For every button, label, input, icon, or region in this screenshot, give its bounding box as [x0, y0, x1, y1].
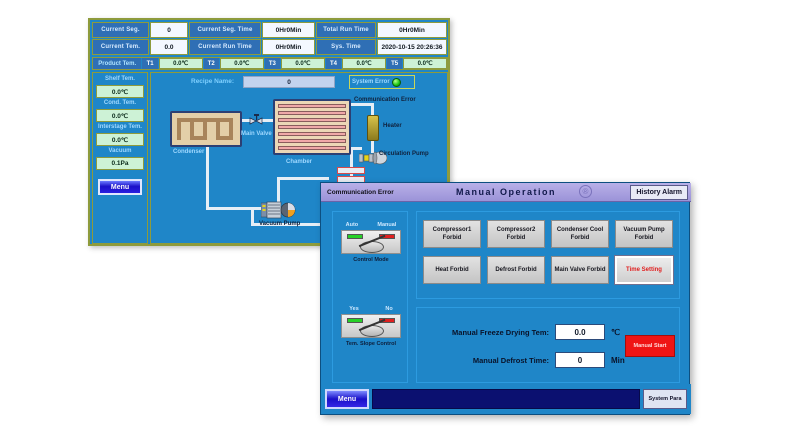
- vacuum-pump-forbid-button[interactable]: Vacuum Pump Forbid: [615, 220, 673, 248]
- pipe-vacuum-cross: [277, 177, 329, 180]
- sidebar-value-vacuum: 0.1Pa: [96, 157, 144, 170]
- heat-exchanger-upper-icon: [337, 167, 365, 174]
- vacuum-pump-icon: [261, 201, 297, 219]
- status-value-sys-time: 2020-10-15 20:26:36: [377, 39, 447, 55]
- compressor1-forbid-button[interactable]: Compressor1 Forbid: [423, 220, 481, 248]
- system-para-button[interactable]: System Para: [643, 389, 687, 409]
- control-mode-switch[interactable]: [341, 230, 401, 254]
- condenser-label: Condenser: [173, 149, 204, 156]
- forbid-button-grid: Compressor1 Forbid Compressor2 Forbid Co…: [416, 211, 680, 299]
- chamber-vessel-icon: [273, 99, 351, 155]
- system-error-lamp-icon: [392, 78, 401, 87]
- sidebar-label-vacuum: Vacuum: [95, 148, 145, 155]
- defrost-forbid-button[interactable]: Defrost Forbid: [487, 256, 545, 284]
- status-row: Current Seg. 0 Current Seg. Time 0Hr0Min…: [92, 22, 448, 38]
- manual-freeze-drying-tem-field[interactable]: 0.0: [555, 324, 605, 340]
- control-mode-caption: Control Mode: [336, 257, 406, 264]
- recipe-name-field[interactable]: 0: [243, 76, 335, 88]
- product-tem-key-t4: T4: [326, 58, 341, 69]
- status-value-total-run-time: 0Hr0Min: [377, 22, 447, 38]
- product-tem-value-t3: 0.0℃: [281, 58, 325, 69]
- status-label-current-seg: Current Seg.: [92, 22, 149, 38]
- pipe-condenser-down: [206, 147, 209, 209]
- sidebar-value-interstage-tem: 0.0℃: [96, 133, 144, 146]
- status-label-total-run-time: Total Run Time: [316, 22, 376, 38]
- circulation-pump-label: Circulation Pump: [379, 151, 429, 158]
- control-mode-head-labels: Auto Manual: [336, 222, 406, 228]
- status-value-current-seg-time: 0Hr0Min: [262, 22, 315, 38]
- product-tem-value-t5: 0.0℃: [403, 58, 447, 69]
- dialog-title-bar: Communication Error Manual Operation ® H…: [321, 183, 691, 202]
- compressor2-forbid-button[interactable]: Compressor2 Forbid: [487, 220, 545, 248]
- product-tem-value-t4: 0.0℃: [342, 58, 386, 69]
- product-tem-key-t1: T1: [142, 58, 157, 69]
- registered-trademark-icon: ®: [579, 185, 592, 198]
- manual-start-button[interactable]: Manual Start: [625, 335, 675, 357]
- heater-icon: [367, 115, 379, 141]
- heat-forbid-button[interactable]: Heat Forbid: [423, 256, 481, 284]
- product-temperature-strip: Product Tem. T1 0.0℃ T2 0.0℃ T3 0.0℃ T4 …: [92, 57, 448, 70]
- tem-slope-head-labels: Yes No: [336, 306, 406, 312]
- manual-defrost-time-unit: Min: [611, 356, 625, 365]
- status-message-strip: [372, 389, 640, 409]
- condenser-cool-forbid-button[interactable]: Condenser Cool Forbid: [551, 220, 609, 248]
- main-valve-label: Main Valve: [241, 131, 272, 138]
- chamber-label: Chamber: [286, 159, 312, 166]
- sidebar-label-shelf-tem: Shelf Tem.: [95, 76, 145, 83]
- history-alarm-button[interactable]: History Alarm: [630, 185, 688, 200]
- recipe-name-label: Recipe Name:: [191, 78, 234, 85]
- control-mode-switch-group: Auto Manual Control Mode: [336, 222, 406, 264]
- manual-freeze-drying-tem-label: Manual Freeze Drying Tem:: [425, 328, 549, 337]
- status-label-current-run-time: Current Run Time: [189, 39, 261, 55]
- tem-slope-no-label: No: [385, 306, 392, 312]
- manual-defrost-time-label: Manual Defrost Time:: [425, 356, 549, 365]
- sidebar-label-cond-tem: Cond. Tem.: [95, 100, 145, 107]
- product-tem-key-t5: T5: [387, 58, 402, 69]
- tem-slope-yes-label: Yes: [349, 306, 358, 312]
- tem-slope-switch[interactable]: [341, 314, 401, 338]
- status-grid: Current Seg. 0 Current Seg. Time 0Hr0Min…: [92, 22, 448, 55]
- heater-label: Heater: [383, 123, 402, 130]
- product-tem-key-t2: T2: [204, 58, 219, 69]
- status-label-current-seg-time: Current Seg. Time: [189, 22, 261, 38]
- main-valve-forbid-button[interactable]: Main Valve Forbid: [551, 256, 609, 284]
- product-tem-title: Product Tem.: [93, 58, 141, 69]
- control-mode-green-lamp-icon: [347, 234, 363, 239]
- sidebar-value-shelf-tem: 0.0℃: [96, 85, 144, 98]
- dialog-bottom-bar: Menu System Para: [321, 384, 691, 414]
- product-tem-value-t1: 0.0℃: [159, 58, 203, 69]
- sidebar-label-interstage-tem: Interstage Tem.: [95, 124, 145, 131]
- tem-slope-caption: Tem. Slope Control: [336, 341, 406, 348]
- product-tem-value-t2: 0.0℃: [220, 58, 264, 69]
- tem-slope-green-lamp-icon: [347, 318, 363, 323]
- manual-operation-dialog: Communication Error Manual Operation ® H…: [320, 182, 690, 415]
- menu-button-main[interactable]: Menu: [98, 179, 142, 195]
- menu-button-dialog[interactable]: Menu: [325, 389, 369, 409]
- vacuum-pump-label: Vacuum Pump: [259, 221, 300, 228]
- control-mode-manual-label: Manual: [377, 222, 396, 228]
- system-error-indicator: System Error: [349, 75, 415, 89]
- status-row: Current Tem. 0.0 Current Run Time 0Hr0Mi…: [92, 39, 448, 55]
- switch-panel: Auto Manual Control Mode Yes No: [332, 211, 408, 383]
- time-setting-button[interactable]: Time Setting: [615, 256, 673, 284]
- manual-parameters-panel: Manual Freeze Drying Tem: 0.0 ℃ Manual D…: [416, 307, 680, 383]
- tem-slope-switch-group: Yes No Tem. Slope Control: [336, 306, 406, 348]
- status-value-current-tem: 0.0: [150, 39, 188, 55]
- manual-defrost-time-row: Manual Defrost Time: 0 Min: [425, 352, 625, 368]
- pipe-bottom-riser: [251, 209, 254, 225]
- sidebar: Shelf Tem. 0.0℃ Cond. Tem. 0.0℃ Intersta…: [92, 72, 148, 244]
- system-error-label: System Error: [352, 79, 390, 85]
- sidebar-value-cond-tem: 0.0℃: [96, 109, 144, 122]
- manual-freeze-drying-tem-unit: ℃: [611, 328, 620, 337]
- manual-freeze-drying-tem-row: Manual Freeze Drying Tem: 0.0 ℃: [425, 324, 620, 340]
- product-tem-key-t3: T3: [265, 58, 280, 69]
- status-label-sys-time: Sys. Time: [316, 39, 376, 55]
- status-value-current-seg: 0: [150, 22, 188, 38]
- status-value-current-run-time: 0Hr0Min: [262, 39, 315, 55]
- condenser-vessel-icon: [170, 111, 242, 147]
- status-label-current-tem: Current Tem.: [92, 39, 149, 55]
- main-valve-icon: [248, 113, 264, 129]
- control-mode-auto-label: Auto: [346, 222, 359, 228]
- manual-defrost-time-field[interactable]: 0: [555, 352, 605, 368]
